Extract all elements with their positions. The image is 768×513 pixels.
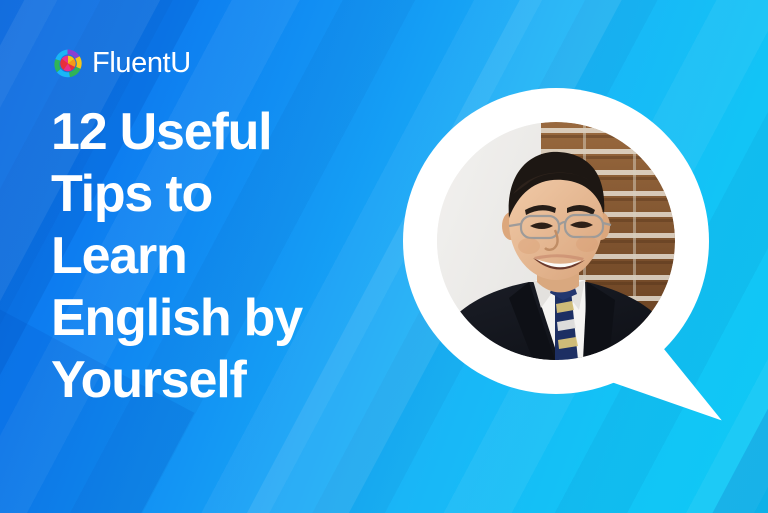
title-line-5: Yourself xyxy=(51,349,411,411)
title-line-2: Tips to xyxy=(51,163,411,225)
page-title: 12 Useful Tips to Learn English by Yours… xyxy=(51,101,411,411)
brand-name: FluentU xyxy=(92,49,191,78)
promo-banner: FluentU 12 Useful Tips to Learn English … xyxy=(0,0,768,513)
speech-bubble-portrait xyxy=(403,88,709,394)
brand-lockup[interactable]: FluentU xyxy=(52,48,191,79)
title-line-1: 12 Useful xyxy=(51,101,411,163)
title-line-4: English by xyxy=(51,287,411,349)
portrait-photo xyxy=(437,122,675,360)
fluentu-globe-icon xyxy=(52,48,83,79)
title-line-3: Learn xyxy=(51,225,411,287)
